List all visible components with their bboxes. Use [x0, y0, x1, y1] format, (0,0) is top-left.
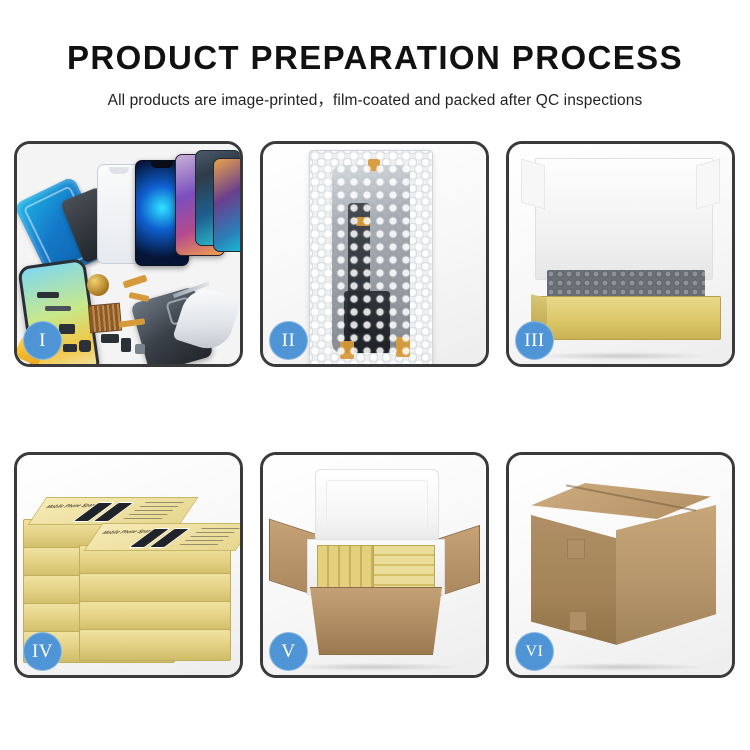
yellow-box-base-icon	[531, 296, 721, 340]
chip-grid-icon	[88, 303, 122, 334]
box-lid-icon	[535, 158, 713, 280]
foam-lid-icon	[315, 469, 439, 543]
spare-part-icon	[59, 324, 75, 334]
process-card-3[interactable]: III	[506, 141, 735, 367]
orange-tape-icon	[340, 341, 354, 359]
step-badge-4: IV	[23, 632, 62, 671]
page-header: PRODUCT PREPARATION PROCESS All products…	[0, 0, 750, 110]
bubble-wrap-bag	[309, 150, 433, 364]
step-badge-3: III	[515, 321, 554, 360]
process-steps-grid: I II	[14, 141, 736, 678]
phone-display-d-icon	[213, 158, 240, 252]
spare-part-icon	[135, 344, 145, 354]
page-subtitle: All products are image-printed，film-coat…	[0, 76, 750, 110]
spare-part-icon	[101, 334, 119, 343]
page-title: PRODUCT PREPARATION PROCESS	[0, 0, 750, 76]
drop-shadow	[285, 663, 463, 671]
printed-box-lid: Mobile Phone Spare Parts	[28, 497, 199, 525]
carton-front-icon	[301, 587, 451, 655]
process-card-4[interactable]: Mobile Phone Spare Parts Mobile Phone Sp…	[14, 452, 243, 678]
box-lid-flap-left-icon	[521, 159, 545, 210]
spare-part-icon	[37, 292, 59, 298]
process-card-2[interactable]: II	[260, 141, 489, 367]
box-lid-flap-right-icon	[696, 159, 720, 210]
printed-box-lid: Mobile Phone Spare Parts	[84, 523, 240, 551]
orange-tape-icon	[396, 337, 410, 357]
process-card-1[interactable]: I	[14, 141, 243, 367]
process-row-top: I II	[14, 141, 736, 367]
drop-shadow	[531, 352, 709, 360]
spare-part-icon	[63, 344, 77, 352]
packed-boxes-icon	[373, 545, 435, 589]
speaker-coil-icon	[87, 274, 109, 296]
stacked-box	[79, 629, 231, 661]
process-card-6[interactable]: VI	[506, 452, 735, 678]
carton-tape-icon	[567, 539, 585, 559]
spare-part-icon	[79, 340, 91, 352]
spare-part-icon	[121, 338, 131, 352]
step-badge-6: VI	[515, 632, 554, 671]
step-badge-1: I	[23, 321, 62, 360]
drop-shadow	[531, 663, 709, 671]
process-row-bottom: Mobile Phone Spare Parts Mobile Phone Sp…	[14, 452, 736, 678]
carton-tape-icon	[569, 611, 587, 631]
orange-tape-icon	[356, 217, 370, 226]
carton-right-face-icon	[616, 505, 716, 645]
step-badge-2: II	[269, 321, 308, 360]
process-card-5[interactable]: V	[260, 452, 489, 678]
spare-part-icon	[45, 306, 71, 311]
orange-tape-icon	[368, 159, 380, 171]
step-badge-5: V	[269, 632, 308, 671]
